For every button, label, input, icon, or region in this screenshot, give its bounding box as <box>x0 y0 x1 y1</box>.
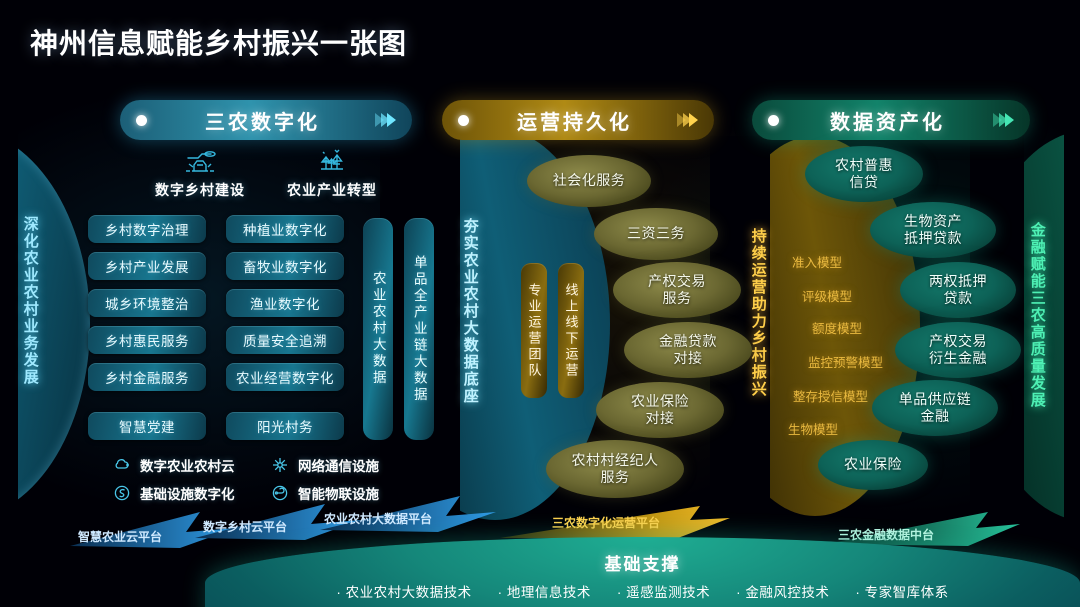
chip-item[interactable]: 智慧党建 <box>88 412 206 440</box>
model-label: 监控预警模型 <box>808 352 883 371</box>
side-label-mid-right: 持续运营助力乡村振兴 <box>750 228 766 398</box>
ellipse-item[interactable]: 两权抵押 贷款 <box>900 262 1016 318</box>
chip-item[interactable]: 种植业数字化 <box>226 215 344 243</box>
ellipse-item[interactable]: 农村普惠 信贷 <box>805 146 923 202</box>
ellipse-item[interactable]: 农业保险 <box>818 440 928 490</box>
flow-arrow-label: 数字乡村云平台 <box>203 518 287 535</box>
pillar-online-offline[interactable]: 线上线下运营 <box>558 263 584 398</box>
forest-trees-icon <box>272 140 392 180</box>
pillar-label: 农业农村大数据 <box>371 271 385 387</box>
network-icon <box>270 455 290 475</box>
base-item: 遥感监测技术 <box>617 581 710 601</box>
pillar-label: 线上线下运营 <box>565 283 578 379</box>
ellipse-item[interactable]: 生物资产 抵押贷款 <box>870 202 996 258</box>
ellipse-item[interactable]: 产权交易 服务 <box>613 262 741 318</box>
flow-arrow-label: 智慧农业云平台 <box>78 528 162 545</box>
ellipse-item[interactable]: 金融贷款 对接 <box>624 322 752 378</box>
ellipse-item[interactable]: 社会化服务 <box>527 155 651 207</box>
flow-arrow-3: 农业农村大数据平台 <box>310 484 520 534</box>
infra-row-network[interactable]: 网络通信设施 <box>270 455 379 475</box>
chip-item[interactable]: 乡村金融服务 <box>88 363 206 391</box>
cloud-icon <box>112 455 132 475</box>
pillar-label: 专业运营团队 <box>528 283 541 379</box>
ellipse-item[interactable]: 产权交易 衍生金融 <box>895 322 1021 378</box>
panel-header-label: 运营持久化 <box>469 106 680 135</box>
ellipse-item[interactable]: 三资三务 <box>594 208 718 260</box>
panel-header-label: 数据资产化 <box>779 106 996 135</box>
chip-item[interactable]: 乡村数字治理 <box>88 215 206 243</box>
flow-arrow-label: 三农金融数据中台 <box>838 526 934 543</box>
base-item: 专家智库体系 <box>855 581 948 601</box>
ellipse-item[interactable]: 农村村经纪人 服务 <box>546 440 684 498</box>
ellipse-item[interactable]: 单品供应链 金融 <box>872 380 998 436</box>
pillar-operation-team[interactable]: 专业运营团队 <box>521 263 547 398</box>
chip-item[interactable]: 质量安全追溯 <box>226 326 344 354</box>
chip-item[interactable]: 乡村产业发展 <box>88 252 206 280</box>
base-item: 农业农村大数据技术 <box>336 581 471 601</box>
chip-item[interactable]: 农业经营数字化 <box>226 363 344 391</box>
chip-item[interactable]: 畜牧业数字化 <box>226 252 344 280</box>
header-dot-icon <box>136 115 147 126</box>
chip-item[interactable]: 渔业数字化 <box>226 289 344 317</box>
base-title: 基础支撑 <box>205 550 1080 575</box>
base-item: 金融风控技术 <box>736 581 829 601</box>
arc-mask-d <box>1064 120 1080 530</box>
flow-arrow-4: 三农数字化运营平台 <box>500 500 750 542</box>
category-head-digital-village: 数字乡村建设 <box>140 140 260 200</box>
header-dot-icon <box>458 115 469 126</box>
infra-row-cloud[interactable]: 数字农业农村云 <box>112 455 235 475</box>
flow-arrow-label: 三农数字化运营平台 <box>552 514 660 531</box>
pillar-supplychain-bigdata[interactable]: 单品全产业链大数据 <box>404 218 434 440</box>
side-label-left: 深化农业农村业务发展 <box>22 216 38 386</box>
chip-item[interactable]: 乡村惠民服务 <box>88 326 206 354</box>
chevron-right-icon <box>680 113 698 127</box>
chip-item[interactable]: 阳光村务 <box>226 412 344 440</box>
category-label: 数字乡村建设 <box>140 180 260 200</box>
infographic-canvas: 神州信息赋能乡村振兴一张图 深化农业农村业务发展 夯实农业农村大数据底座 持续运… <box>0 0 1080 607</box>
category-head-agri-industry: 农业产业转型 <box>272 140 392 200</box>
side-label-right: 金融赋能三农高质量发展 <box>1029 222 1045 409</box>
arc-mask-left <box>0 128 18 520</box>
pillar-agri-bigdata[interactable]: 农业农村大数据 <box>363 218 393 440</box>
ellipse-item[interactable]: 农业保险 对接 <box>596 382 724 438</box>
chip-item[interactable]: 城乡环境整治 <box>88 289 206 317</box>
header-dot-icon <box>768 115 779 126</box>
infra-label: 数字农业农村云 <box>140 455 235 475</box>
model-label: 额度模型 <box>812 318 862 337</box>
panel-header-label: 三农数字化 <box>147 106 378 135</box>
village-bridge-icon <box>140 140 260 180</box>
flow-arrow-label: 农业农村大数据平台 <box>324 510 432 527</box>
model-label: 准入模型 <box>792 252 842 271</box>
model-label: 评级模型 <box>802 286 852 305</box>
chevron-right-icon <box>378 113 396 127</box>
category-label: 农业产业转型 <box>272 180 392 200</box>
base-item: 地理信息技术 <box>498 581 591 601</box>
panel-header-sannong-digital[interactable]: 三农数字化 <box>120 100 412 140</box>
model-label: 生物模型 <box>788 419 838 438</box>
pillar-label: 单品全产业链大数据 <box>412 255 426 404</box>
model-label: 整存授信模型 <box>793 386 868 405</box>
panel-header-operation-sustain[interactable]: 运营持久化 <box>442 100 714 140</box>
panel-header-data-assetization[interactable]: 数据资产化 <box>752 100 1030 140</box>
side-label-mid-left: 夯实农业农村大数据底座 <box>462 218 478 405</box>
base-items-row: 农业农村大数据技术 地理信息技术 遥感监测技术 金融风控技术 专家智库体系 <box>205 581 1080 601</box>
chevron-right-icon <box>996 113 1014 127</box>
infra-label: 网络通信设施 <box>298 455 379 475</box>
page-title: 神州信息赋能乡村振兴一张图 <box>30 22 407 62</box>
